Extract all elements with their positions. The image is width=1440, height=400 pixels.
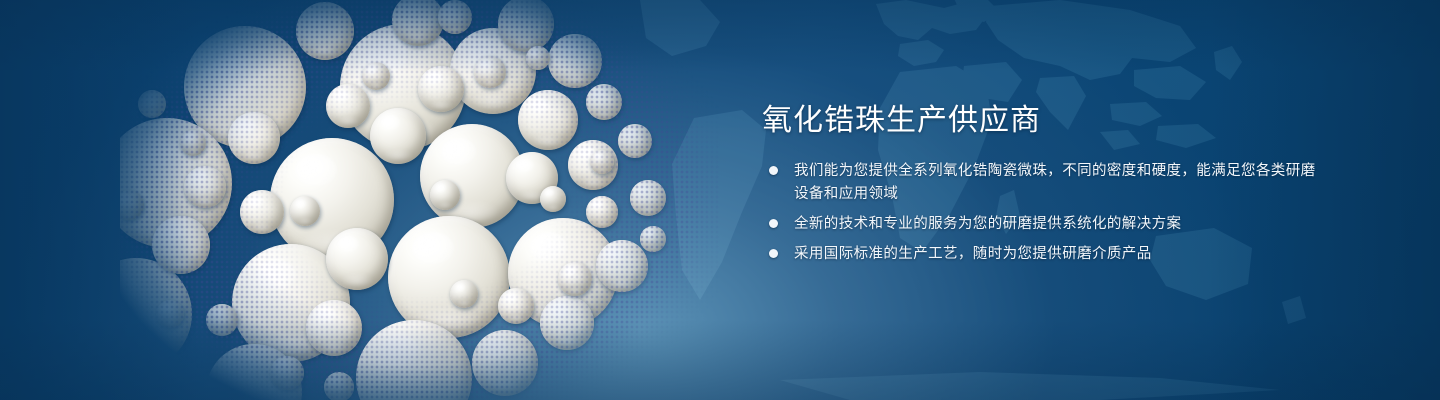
bead [472,330,538,396]
bead [180,130,206,156]
bead [228,112,280,164]
bead [450,280,478,308]
bead [326,84,370,128]
banner-headline: 氧化锆珠生产供应商 [762,104,1322,138]
ceramic-beads-photo [120,0,720,400]
bead [152,216,210,274]
bead [206,304,238,336]
bead [526,46,550,70]
bead [240,190,284,234]
bullet-text: 全新的技术和专业的服务为您的研磨提供系统化的解决方案 [794,213,1181,236]
bead [548,34,602,88]
bead [618,124,652,158]
bead [558,262,592,296]
bead [418,66,464,112]
bead [296,2,354,60]
bead [498,0,554,52]
bead [498,288,534,324]
bead [590,150,614,174]
banner-bullet-list: 我们能为您提供全系列氧化锆陶瓷微珠，不同的密度和硬度，能满足您各类研磨设备和应用… [762,160,1322,266]
list-item: 采用国际标准的生产工艺，随时为您提供研磨介质产品 [762,243,1322,266]
bead [156,300,184,328]
bead [138,90,166,118]
bead [474,56,506,88]
list-item: 全新的技术和专业的服务为您的研磨提供系统化的解决方案 [762,213,1322,236]
bead [370,108,426,164]
bead [326,228,388,290]
bead [290,196,320,226]
bead [596,240,648,292]
bead [540,186,566,212]
bead [270,356,304,390]
bead [540,296,594,350]
filled-circle-bullet-icon [769,166,778,175]
beads-cluster [120,0,720,400]
bead [184,166,226,208]
filled-circle-bullet-icon [769,249,778,258]
bead [640,226,666,252]
bead [586,84,622,120]
bead [430,180,460,210]
bead [362,62,390,90]
hero-banner: 氧化锆珠生产供应商 我们能为您提供全系列氧化锆陶瓷微珠，不同的密度和硬度，能满足… [0,0,1440,400]
bead [630,180,666,216]
list-item: 我们能为您提供全系列氧化锆陶瓷微珠，不同的密度和硬度，能满足您各类研磨设备和应用… [762,160,1322,206]
bead [438,0,472,34]
bead [324,372,354,400]
bead [306,300,362,356]
banner-copy: 氧化锆珠生产供应商 我们能为您提供全系列氧化锆陶瓷微珠，不同的密度和硬度，能满足… [762,104,1322,273]
bead [586,196,618,228]
bullet-text: 我们能为您提供全系列氧化锆陶瓷微珠，不同的密度和硬度，能满足您各类研磨设备和应用… [794,160,1322,206]
bead [518,90,578,150]
bullet-text: 采用国际标准的生产工艺，随时为您提供研磨介质产品 [794,243,1152,266]
bead [134,352,190,400]
filled-circle-bullet-icon [769,219,778,228]
